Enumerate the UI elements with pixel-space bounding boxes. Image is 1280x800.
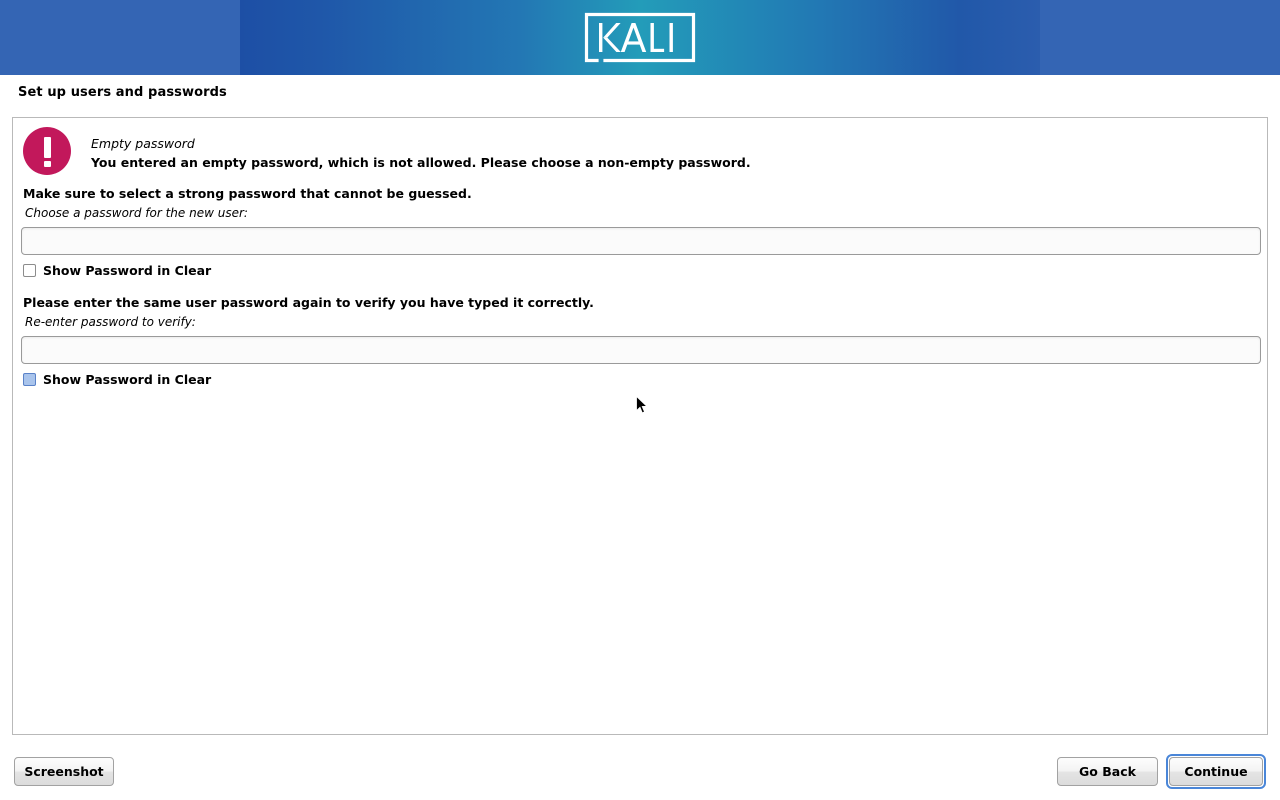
show-password-clear-label-2: Show Password in Clear — [43, 372, 211, 387]
go-back-button[interactable]: Go Back — [1057, 757, 1158, 786]
main-content-panel: Empty password You entered an empty pass… — [12, 117, 1268, 735]
password-form: Make sure to select a strong password th… — [13, 186, 1269, 387]
error-exclamation-icon — [23, 127, 71, 175]
installer-banner — [0, 0, 1280, 75]
error-title: Empty password — [91, 136, 195, 151]
password-field-label: Choose a password for the new user: — [25, 206, 1269, 221]
show-password-clear-checkbox-1[interactable] — [23, 264, 36, 277]
screenshot-button[interactable]: Screenshot — [14, 757, 114, 786]
show-password-clear-row-1[interactable]: Show Password in Clear — [23, 263, 1269, 278]
verify-hint: Please enter the same user password agai… — [23, 295, 1269, 310]
verify-field-label: Re-enter password to verify: — [25, 315, 1269, 330]
show-password-clear-checkbox-2[interactable] — [23, 373, 36, 386]
kali-logo-icon — [583, 11, 697, 64]
continue-button-focus-ring: Continue — [1166, 754, 1266, 789]
footer-button-bar: Screenshot Go Back Continue — [0, 745, 1280, 800]
password-hint: Make sure to select a strong password th… — [23, 186, 1269, 201]
continue-button[interactable]: Continue — [1169, 757, 1263, 786]
show-password-clear-row-2[interactable]: Show Password in Clear — [23, 372, 1269, 387]
password-input[interactable] — [21, 227, 1261, 255]
verify-password-input[interactable] — [21, 336, 1261, 364]
error-description: You entered an empty password, which is … — [91, 155, 751, 170]
form-spacer — [13, 278, 1269, 295]
show-password-clear-label-1: Show Password in Clear — [43, 263, 211, 278]
page-title: Set up users and passwords — [18, 85, 227, 100]
